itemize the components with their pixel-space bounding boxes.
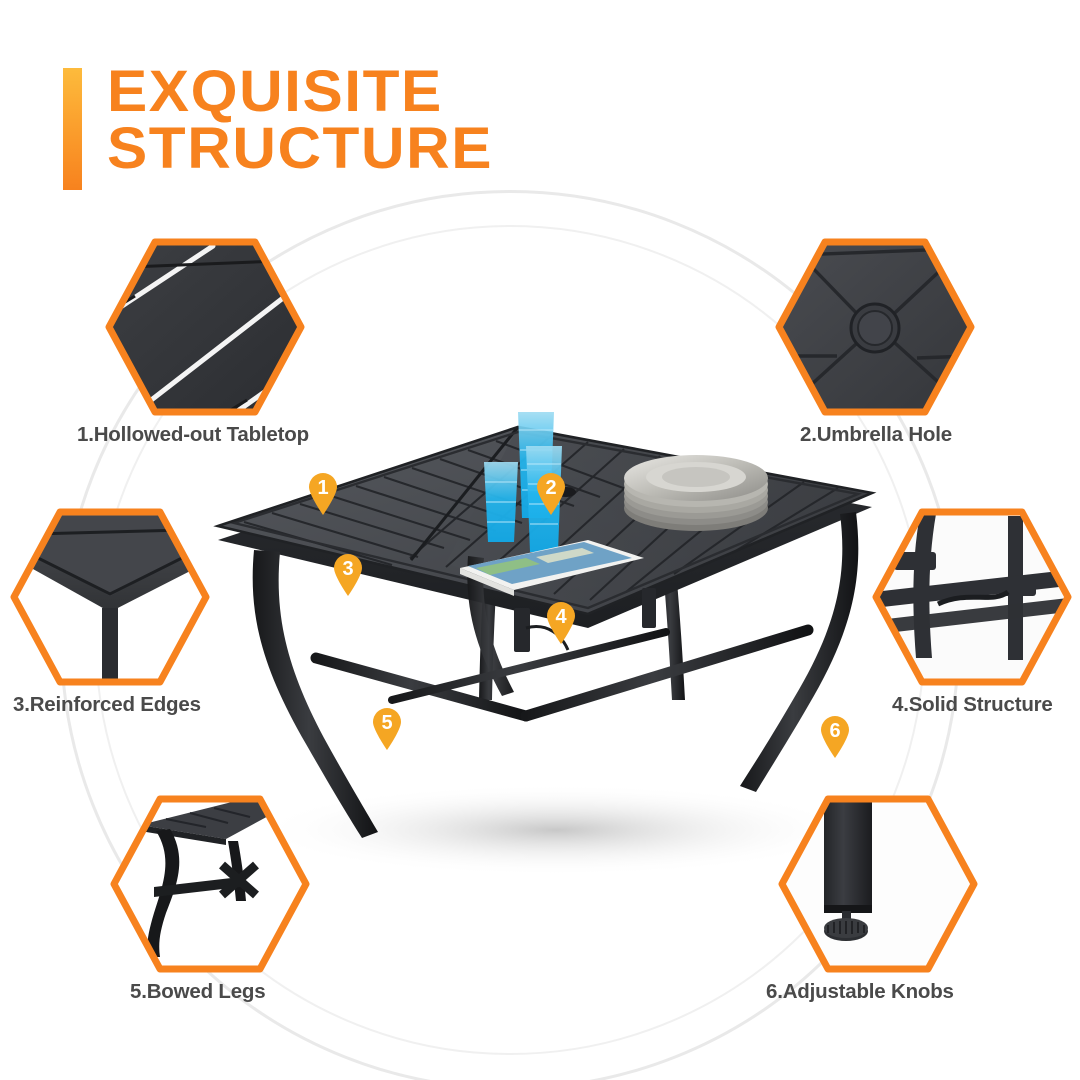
feature-label-1: 1.Hollowed-out Tabletop	[77, 423, 309, 447]
pin-number-label: 3	[330, 551, 366, 587]
feature-label-3: 3.Reinforced Edges	[13, 693, 201, 717]
umbrella-hole-photo	[775, 238, 975, 416]
pin-marker-1[interactable]: 1	[305, 470, 341, 516]
feature-label-6: 6.Adjustable Knobs	[766, 980, 954, 1004]
feature-label-2: 2.Umbrella Hole	[800, 423, 952, 447]
feature-callout-3[interactable]: 3.Reinforced Edges	[10, 508, 210, 686]
feature-label-4: 4.Solid Structure	[892, 693, 1053, 717]
pin-marker-6[interactable]: 6	[817, 713, 853, 759]
feature-callout-1[interactable]: 1.Hollowed-out Tabletop	[105, 238, 305, 416]
hexagon-frame	[110, 795, 310, 973]
pin-number-label: 4	[543, 599, 579, 635]
hollowed-tabletop-photo	[105, 238, 305, 416]
reinforced-edges-photo	[10, 508, 210, 686]
page-title-line2: STRUCTURE	[107, 121, 493, 178]
pin-number-label: 2	[533, 470, 569, 506]
hexagon-frame	[872, 508, 1072, 686]
page-header: EXQUISITESTRUCTURE	[63, 68, 478, 190]
feature-label-5: 5.Bowed Legs	[130, 980, 265, 1004]
title-accent-bar	[63, 68, 82, 190]
page-title: EXQUISITESTRUCTURE	[107, 64, 493, 178]
pin-marker-5[interactable]: 5	[369, 705, 405, 751]
pin-marker-4[interactable]: 4	[543, 599, 579, 645]
hexagon-frame	[778, 795, 978, 973]
hexagon-frame	[775, 238, 975, 416]
pin-number-label: 1	[305, 470, 341, 506]
bowed-legs-photo	[110, 795, 310, 973]
pin-number-label: 6	[817, 713, 853, 749]
feature-callout-2[interactable]: 2.Umbrella Hole	[775, 238, 975, 416]
hexagon-frame	[105, 238, 305, 416]
feature-callout-4[interactable]: 4.Solid Structure	[872, 508, 1072, 686]
pin-number-label: 5	[369, 705, 405, 741]
feature-callout-6[interactable]: 6.Adjustable Knobs	[778, 795, 978, 973]
pin-marker-3[interactable]: 3	[330, 551, 366, 597]
knurled-knob	[824, 918, 868, 941]
pin-marker-2[interactable]: 2	[533, 470, 569, 516]
page-title-line1: EXQUISITE	[107, 59, 443, 124]
infographic-canvas: EXQUISITESTRUCTURE	[0, 0, 1080, 1080]
solid-structure-photo	[872, 508, 1072, 686]
feature-callout-5[interactable]: 5.Bowed Legs	[110, 795, 310, 973]
hexagon-frame	[10, 508, 210, 686]
glass-short	[484, 462, 518, 542]
stacked-plates	[624, 455, 768, 531]
adjustable-knob-photo	[778, 795, 978, 973]
